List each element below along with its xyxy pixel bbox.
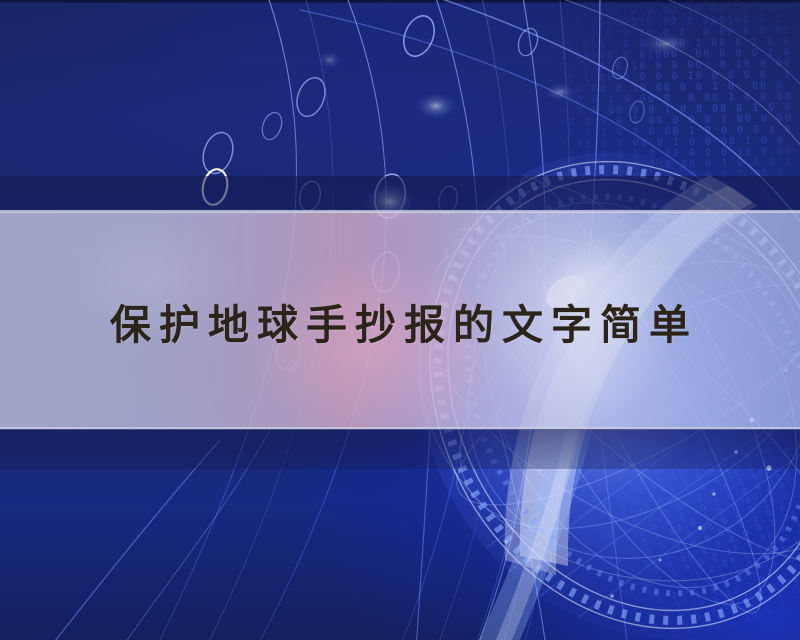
banner-image: 0 1001 0 00 1 0 0 10 00 0 1 0 00010 01 0… xyxy=(0,0,800,640)
page-title: 保护地球手抄报的文字简单 xyxy=(110,291,698,351)
title-container: 保护地球手抄报的文字简单 xyxy=(0,212,800,429)
band-strip-below xyxy=(0,429,800,469)
band-strip-above xyxy=(0,176,800,212)
